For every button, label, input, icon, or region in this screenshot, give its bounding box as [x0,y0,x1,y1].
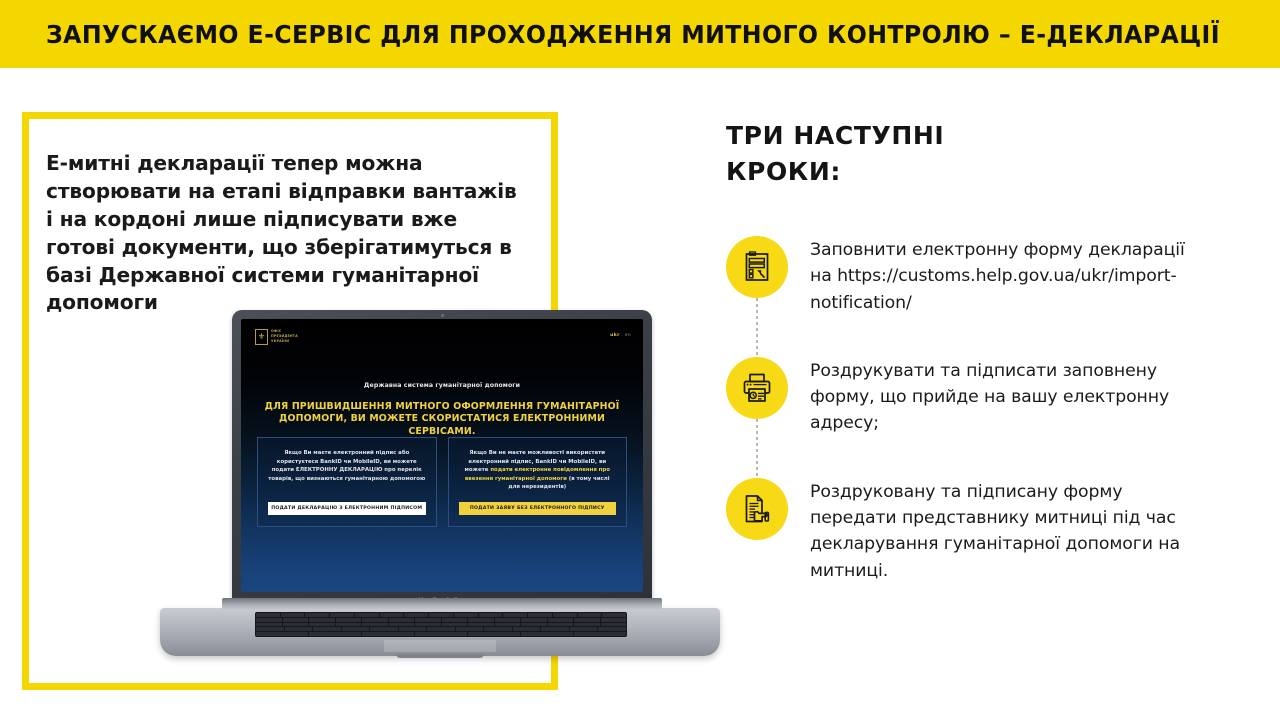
page-title: ЗАПУСКАЄМО Е-СЕРВІС ДЛЯ ПРОХОДЖЕННЯ МИТН… [46,20,1220,49]
key [336,623,362,627]
key [442,618,468,622]
key [389,618,415,622]
key [355,613,379,617]
laptop-mockup: ⚜ ОФІС ПРЕЗИДЕНТА УКРАЇНИ ukr en Державн… [160,310,720,678]
key [285,627,313,631]
card-2-text: Якщо Ви не маєте можливості використати … [459,449,617,492]
key [602,613,626,617]
card-without-signature: Якщо Ви не маєте можливості використати … [448,437,628,527]
key [305,613,329,617]
key [362,618,388,622]
key [574,623,600,627]
key [521,632,573,636]
key [528,613,552,617]
key [404,613,428,617]
key [601,623,627,627]
key [578,613,602,617]
lang-option-en[interactable]: en [625,333,631,338]
key [456,627,484,631]
key [256,618,282,622]
key [479,613,503,617]
key [256,613,280,617]
step-3-text: Роздруковану та підписану форму передати… [810,478,1196,584]
steps-heading-block: ТРИ НАСТУПНІ КРОКИ: [726,118,1196,189]
lang-option-ukr[interactable]: ukr [610,333,620,338]
keyboard-row [256,632,626,636]
key [468,623,494,627]
key [342,627,370,631]
key [495,618,521,622]
step-3-icon-wrap [726,478,788,540]
key [256,632,308,636]
steps-heading-line-1: ТРИ НАСТУПНІ [726,118,1196,154]
logo-line-3: УКРАЇНИ [271,340,298,344]
key [415,623,441,627]
key [313,627,341,631]
key [415,618,441,622]
keyboard-row [256,623,626,627]
key [427,627,455,631]
steps-list: Заповнити електронну форму декларації на… [726,236,1196,584]
key [370,627,398,631]
step-1-text: Заповнити електронну форму декларації на… [810,236,1196,316]
key [548,618,574,622]
laptop-keyboard[interactable] [255,612,627,637]
key [256,623,282,627]
step-item: Роздруковану та підписану форму передати… [726,478,1196,584]
key [380,613,404,617]
key [495,623,521,627]
laptop-trackpad[interactable] [384,640,496,652]
site-topbar: ⚜ ОФІС ПРЕЗИДЕНТА УКРАЇНИ ukr en [241,319,643,357]
key [429,613,453,617]
submit-application-without-signature-button[interactable]: ПОДАТИ ЗАЯВУ БЕЗ ЕЛЕКТРОННОГО ПІДПИСУ [459,502,617,515]
key [389,623,415,627]
key [454,613,478,617]
key [574,632,626,636]
language-switcher[interactable]: ukr en [610,333,631,338]
steps-heading-line-2: КРОКИ: [726,154,1196,190]
key [415,632,467,636]
intro-paragraph: Е-митні декларації тепер можна створюват… [46,150,526,317]
key [309,623,335,627]
laptop-hinge [222,598,662,610]
key [601,618,627,622]
key [330,613,354,617]
key [503,613,527,617]
key [336,618,362,622]
laptop-base [160,598,720,664]
key [399,627,427,631]
key [283,623,309,627]
step-1-circle [726,236,788,298]
step-2-text: Роздрукувати та підписати заповнену форм… [810,357,1196,437]
key [553,613,577,617]
step-2-icon-wrap [726,357,788,419]
key [513,627,541,631]
card-with-signature: Якщо Ви маєте електронний підпис або кор… [257,437,437,527]
card-1-text: Якщо Ви маєте електронний підпис або кор… [268,449,426,483]
keyboard-row [256,627,626,631]
keyboard-row [256,613,626,617]
key [256,627,284,631]
key [521,618,547,622]
laptop-front-lip [396,654,484,658]
step-2-circle [726,357,788,419]
step-1-icon-wrap [726,236,788,298]
trident-crest-icon: ⚜ [255,329,268,345]
key [442,623,468,627]
laptop-screen: ⚜ ОФІС ПРЕЗИДЕНТА УКРАЇНИ ukr en Державн… [241,319,643,592]
submit-declaration-with-signature-button[interactable]: ПОДАТИ ДЕКЛАРАЦІЮ З ЕЛЕКТРОННИМ ПІДПИСОМ [268,502,426,515]
key [309,632,361,636]
key [468,618,494,622]
service-cards: Якщо Ви маєте електронний підпис або кор… [257,437,627,527]
laptop-lid: ⚜ ОФІС ПРЕЗИДЕНТА УКРАЇНИ ukr en Державн… [232,310,652,606]
key [309,618,335,622]
key [281,613,305,617]
key [468,632,520,636]
key [574,618,600,622]
key [362,632,414,636]
key [362,623,388,627]
step-item: Заповнити електронну форму декларації на… [726,236,1196,316]
key [484,627,512,631]
site-subtitle: Державна система гуманітарної допомоги [241,382,643,389]
key [548,623,574,627]
key [521,623,547,627]
site-headline: ДЛЯ ПРИШВИДШЕННЯ МИТНОГО ОФОРМЛЕННЯ ГУМА… [259,401,625,438]
key [541,627,569,631]
hand-holding-document-icon [740,492,774,526]
form-document-pen-icon [740,250,774,284]
keyboard-row [256,618,626,622]
step-item: Роздрукувати та підписати заповнену форм… [726,357,1196,437]
key [570,627,598,631]
printer-icon [740,371,774,405]
president-office-logo[interactable]: ⚜ ОФІС ПРЕЗИДЕНТА УКРАЇНИ [255,329,298,345]
step-3-circle [726,478,788,540]
header-bar: ЗАПУСКАЄМО Е-СЕРВІС ДЛЯ ПРОХОДЖЕННЯ МИТН… [0,0,1280,68]
key [283,618,309,622]
webcam-icon [441,314,444,317]
key [598,627,626,631]
logo-wordmark: ОФІС ПРЕЗИДЕНТА УКРАЇНИ [271,330,298,343]
